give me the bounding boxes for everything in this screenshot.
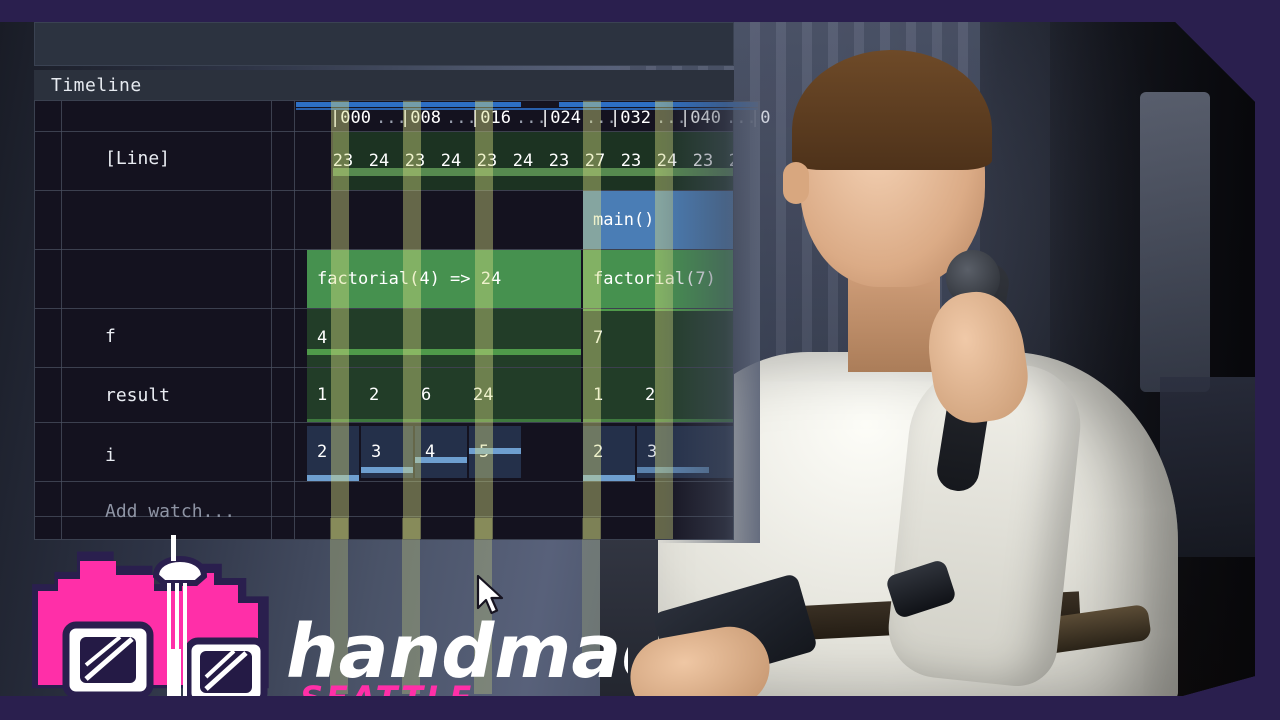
line-value: 24	[433, 132, 469, 190]
line-value: 24	[721, 132, 733, 190]
ruler-tick: |016	[470, 108, 511, 128]
line-value: 23	[397, 132, 433, 190]
result-value: 1	[307, 368, 361, 422]
f-value: 4	[307, 309, 581, 367]
line-value: 23	[469, 132, 505, 190]
line-value: 23	[541, 132, 577, 190]
line-value: 23	[613, 132, 649, 190]
track-callstack[interactable]: main()	[294, 191, 733, 249]
row-label-result: result	[105, 385, 170, 406]
column-divider	[271, 101, 272, 539]
toolbar[interactable]	[34, 22, 734, 66]
logo-graphic: handmade SEATTLE	[28, 529, 628, 714]
i-value: 2	[307, 426, 359, 478]
result-value: 2	[359, 368, 413, 422]
line-value: 27	[577, 132, 613, 190]
line-value: 24	[649, 132, 685, 190]
row-label-line: [Line]	[105, 148, 170, 169]
page-title: Timeline	[34, 75, 142, 96]
ruler-tick: |032	[610, 108, 651, 128]
i-underline	[583, 475, 635, 481]
ruler-tick: |0	[750, 108, 770, 128]
track-frames[interactable]: factorial(4) => 24 factorial(7)	[294, 250, 733, 308]
ruler-tick: |008	[400, 108, 441, 128]
track-line[interactable]: 23 24 23 24 23 24 23 27 23 24 23 24 23	[294, 132, 733, 190]
horizontal-scrollbar[interactable]	[296, 102, 758, 107]
speaker-ear	[783, 162, 809, 204]
i-underline	[637, 467, 709, 473]
track-result[interactable]: 1 2 6 24 1 2	[294, 368, 733, 422]
track-f[interactable]: 4 7	[294, 309, 733, 367]
result-underline	[307, 419, 581, 422]
mouse-cursor	[476, 575, 506, 619]
line-value: 23	[685, 132, 721, 190]
background-chair	[1160, 377, 1280, 557]
result-underline	[583, 419, 733, 422]
ruler-tick: |040	[680, 108, 721, 128]
scrollbar-notch	[521, 102, 559, 107]
result-value: 1	[583, 368, 637, 422]
timeline-panel-header: Timeline	[34, 70, 734, 100]
i-underline	[307, 475, 359, 481]
call-block-main[interactable]: main()	[583, 191, 733, 249]
column-divider	[61, 101, 62, 539]
f-underline	[583, 309, 733, 311]
handmade-seattle-logo: handmade SEATTLE	[28, 529, 628, 714]
add-watch-input[interactable]: Add watch...	[105, 501, 235, 522]
track-i[interactable]: 2 3 4 5 2 3	[294, 423, 733, 481]
i-underline	[361, 467, 413, 473]
result-value: 6	[411, 368, 465, 422]
background-speaker	[1140, 92, 1210, 392]
ruler-tick: |000	[330, 108, 371, 128]
row-label-f: f	[105, 326, 116, 347]
line-value: 23	[325, 132, 361, 190]
frame-block-factorial-7[interactable]: factorial(7)	[583, 250, 733, 308]
screen-root: Timeline [Line] f result i Add watch...	[0, 0, 1280, 720]
bottom-bar	[0, 696, 1280, 720]
row-label-i: i	[105, 445, 116, 466]
result-value: 2	[635, 368, 733, 422]
i-underline	[469, 448, 521, 454]
timeline-grid[interactable]: [Line] f result i Add watch... |000 ... …	[34, 100, 734, 540]
i-underline	[415, 457, 467, 463]
i-value: 4	[415, 426, 467, 478]
f-value: 7	[583, 309, 733, 367]
i-value: 2	[583, 426, 635, 478]
ruler-tick: |024	[540, 108, 581, 128]
scrollbar-track[interactable]	[296, 108, 758, 110]
result-value: 24	[463, 368, 581, 422]
line-value: 24	[505, 132, 541, 190]
line-value: 24	[361, 132, 397, 190]
speaker-hair	[792, 50, 992, 170]
frame-block-factorial-4[interactable]: factorial(4) => 24	[307, 250, 581, 308]
f-underline	[307, 349, 581, 355]
row-divider	[35, 481, 733, 482]
